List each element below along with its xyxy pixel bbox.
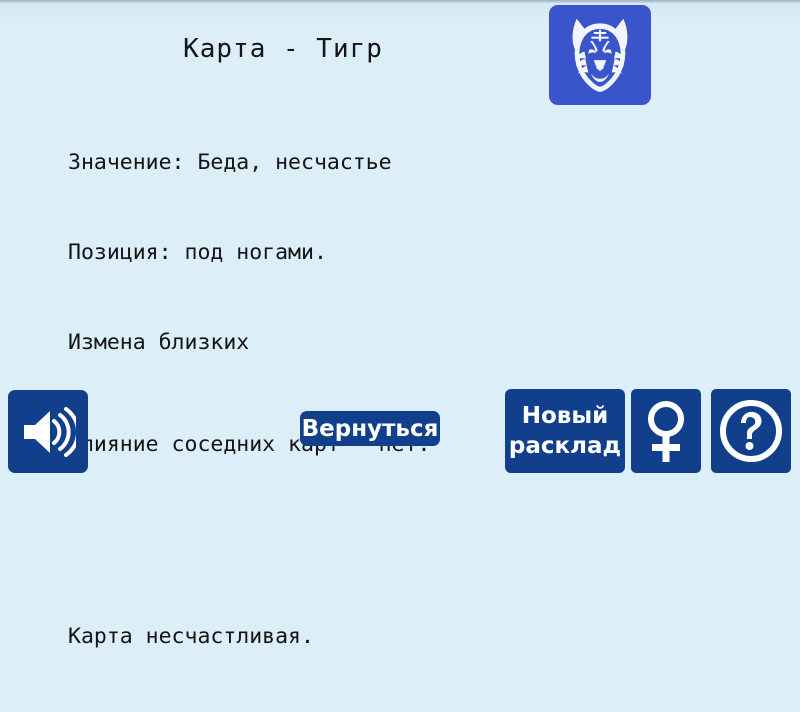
tiger-head-icon xyxy=(561,14,639,96)
card-description: Значение: Беда, несчастье Позиция: под н… xyxy=(68,88,548,712)
new-layout-label-line2: расклад xyxy=(509,431,621,461)
sound-toggle-button[interactable] xyxy=(8,390,88,473)
new-layout-button[interactable]: Новый расклад xyxy=(505,389,625,473)
description-line-blank xyxy=(68,520,548,550)
question-mark-circle-icon xyxy=(718,398,784,464)
description-line: Позиция: под ногами. xyxy=(68,238,548,268)
speaker-icon xyxy=(20,407,76,457)
description-line: Значение: Беда, несчастье xyxy=(68,148,548,178)
page-title: Карта - Тигр xyxy=(0,34,566,64)
female-venus-icon xyxy=(641,398,691,464)
gender-button[interactable] xyxy=(631,389,701,473)
tiger-card[interactable] xyxy=(549,5,651,105)
description-line: Измена близких xyxy=(68,328,548,358)
top-edge-strip xyxy=(0,0,800,3)
description-line: Карта несчастливая. xyxy=(68,622,548,652)
back-button[interactable]: Вернуться xyxy=(300,411,440,446)
app-screen: Карта - Тигр xyxy=(0,0,800,480)
new-layout-label-line1: Новый xyxy=(522,401,609,431)
help-button[interactable] xyxy=(711,389,791,473)
